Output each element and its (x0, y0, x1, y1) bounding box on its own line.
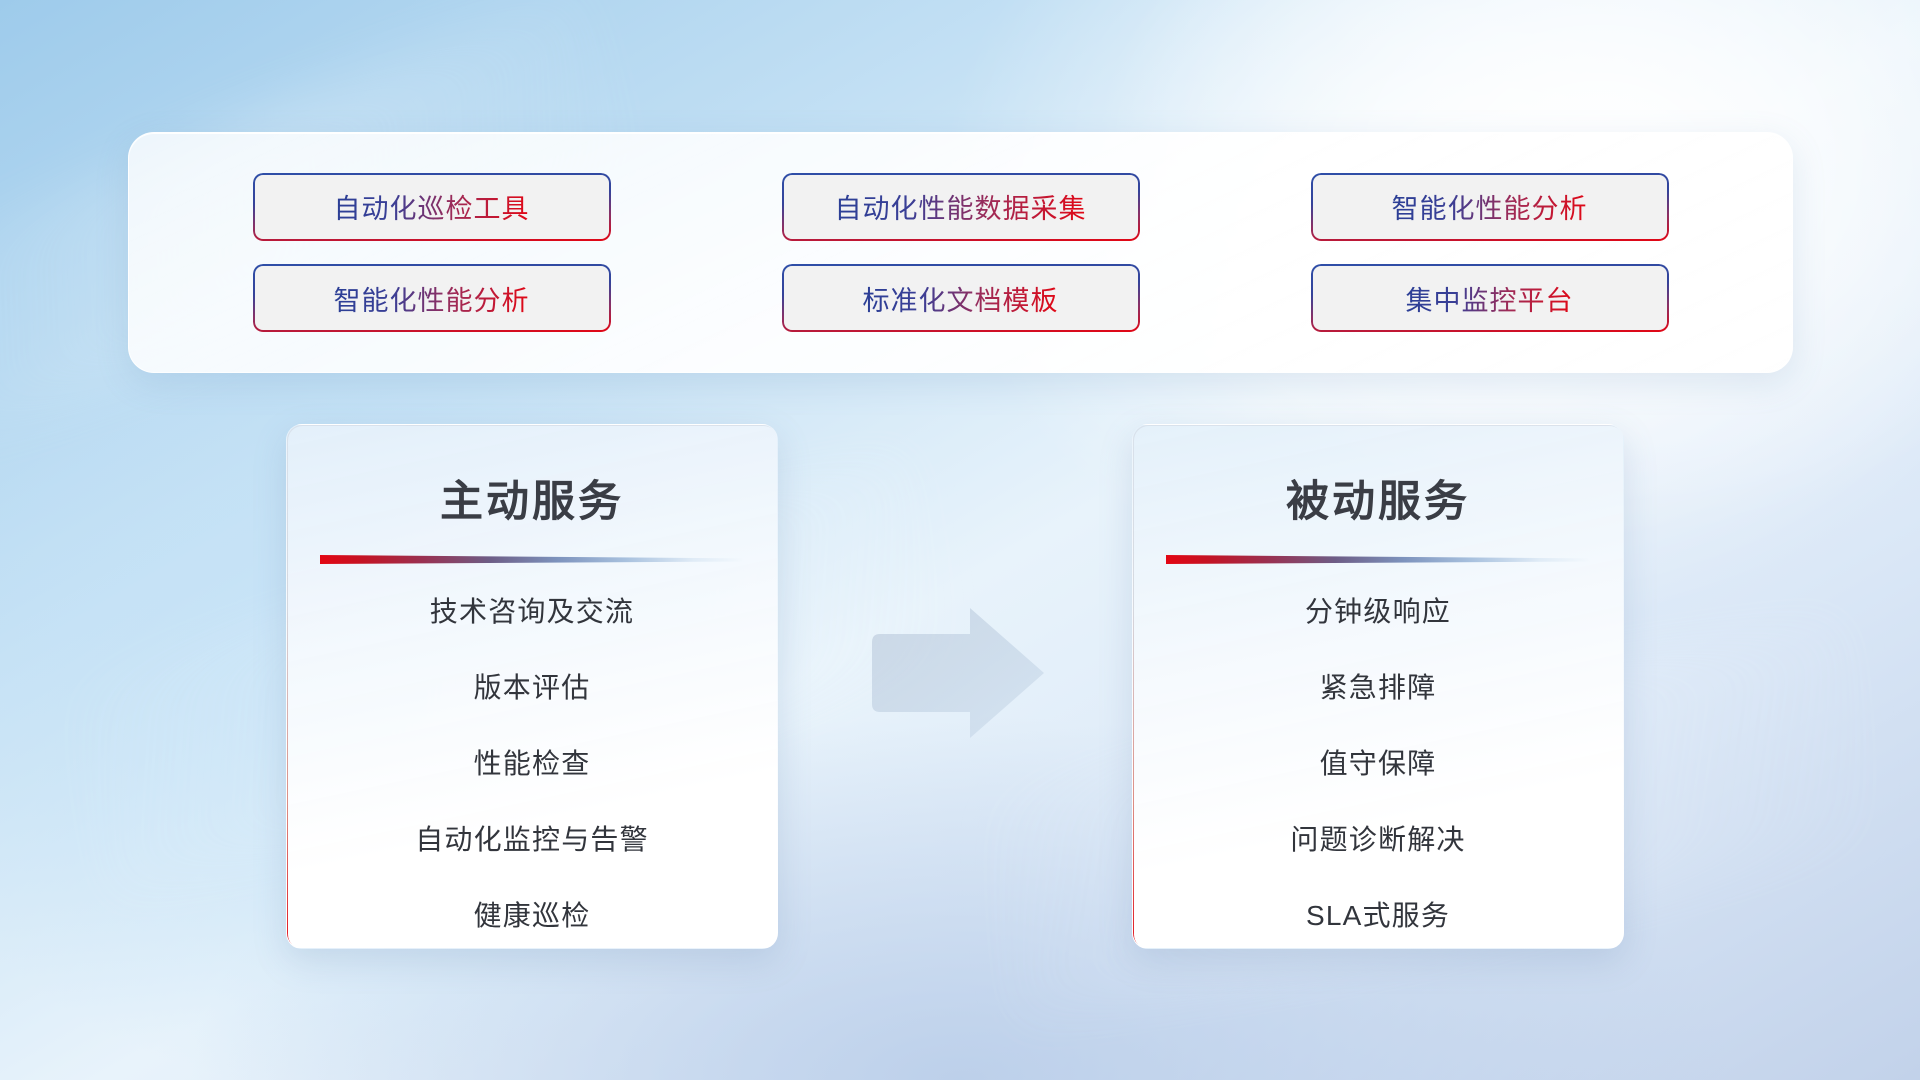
capability-pill-label: 自动化性能数据采集 (835, 187, 1087, 226)
active-service-card-title: 主动服务 (287, 425, 777, 529)
capability-tags-panel: 自动化巡检工具 自动化性能数据采集 智能化性能分析 智能化性能分析 标准化文档模… (128, 132, 1793, 373)
capability-pill-automated-performance-data-collection[interactable]: 自动化性能数据采集 (782, 173, 1140, 241)
list-item[interactable]: SLA式服务 (1133, 902, 1623, 930)
list-item[interactable]: 紧急排障 (1133, 674, 1623, 702)
list-item[interactable]: 值守保障 (1133, 750, 1623, 778)
capability-pill-centralized-monitoring-platform[interactable]: 集中监控平台 (1311, 264, 1669, 332)
card-divider (1166, 555, 1590, 564)
active-service-list: 技术咨询及交流 版本评估 性能检查 自动化监控与告警 健康巡检 (287, 564, 777, 930)
list-item[interactable]: 问题诊断解决 (1133, 826, 1623, 854)
capability-pill-label: 智能化性能分析 (334, 279, 530, 318)
list-item[interactable]: 技术咨询及交流 (287, 598, 777, 626)
passive-service-card[interactable]: 被动服务 分钟级响应 紧急排障 值守保障 问题诊断解决 SLA式服务 (1132, 424, 1624, 949)
list-item[interactable]: 版本评估 (287, 674, 777, 702)
capability-pill-intelligent-performance-analysis-1[interactable]: 智能化性能分析 (1311, 173, 1669, 241)
list-item[interactable]: 分钟级响应 (1133, 598, 1623, 626)
passive-service-list: 分钟级响应 紧急排障 值守保障 问题诊断解决 SLA式服务 (1133, 564, 1623, 930)
capability-pill-automated-inspection-tool[interactable]: 自动化巡检工具 (253, 173, 611, 241)
capability-pill-label: 智能化性能分析 (1392, 187, 1588, 226)
passive-service-card-title: 被动服务 (1133, 425, 1623, 529)
capability-pill-intelligent-performance-analysis-2[interactable]: 智能化性能分析 (253, 264, 611, 332)
card-divider (320, 555, 744, 564)
active-service-card[interactable]: 主动服务 技术咨询及交流 版本评估 性能检查 自动化监控与告警 健康巡检 (286, 424, 778, 949)
capability-pill-label: 自动化巡检工具 (334, 187, 530, 226)
capability-pill-label: 标准化文档模板 (863, 279, 1059, 318)
arrow-right-icon (872, 608, 1044, 738)
slide-canvas: 自动化巡检工具 自动化性能数据采集 智能化性能分析 智能化性能分析 标准化文档模… (0, 0, 1920, 1080)
list-item[interactable]: 健康巡检 (287, 902, 777, 930)
list-item[interactable]: 自动化监控与告警 (287, 826, 777, 854)
list-item[interactable]: 性能检查 (287, 750, 777, 778)
capability-pill-standardized-document-template[interactable]: 标准化文档模板 (782, 264, 1140, 332)
capability-pill-label: 集中监控平台 (1406, 279, 1574, 318)
